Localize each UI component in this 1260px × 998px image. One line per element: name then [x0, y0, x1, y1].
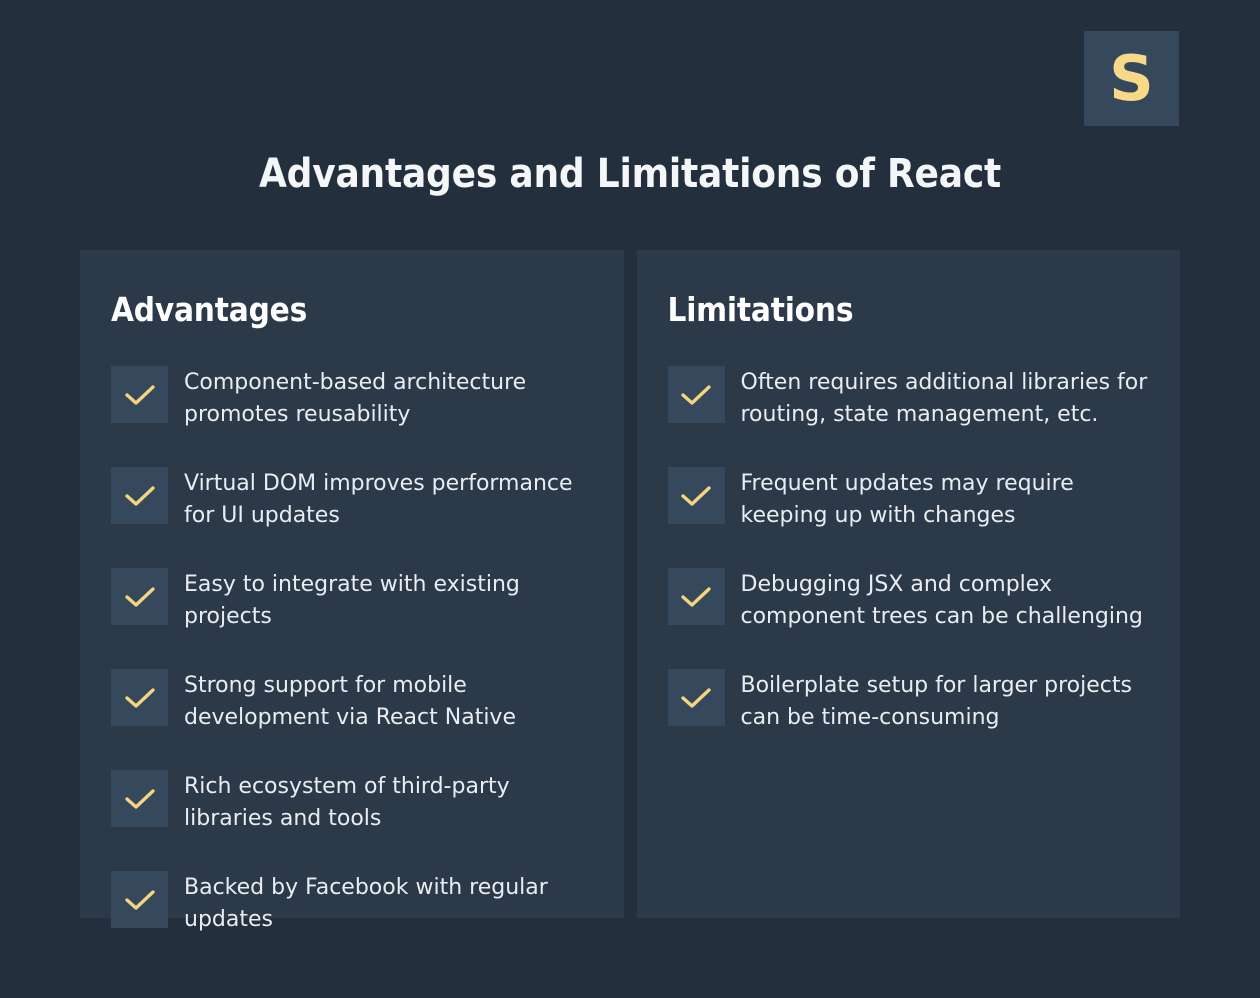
list-item-label: Easy to integrate with existing projects	[184, 568, 594, 633]
brand-logo-s-icon: S	[1109, 48, 1154, 110]
list-item-label: Rich ecosystem of third-party libraries …	[184, 770, 594, 835]
list-item-label: Boilerplate setup for larger projects ca…	[741, 669, 1151, 734]
check-icon	[111, 467, 168, 524]
check-icon	[111, 871, 168, 928]
list-item-label: Component-based architecture promotes re…	[184, 366, 594, 431]
check-icon	[668, 669, 725, 726]
list-item-label: Often requires additional libraries for …	[741, 366, 1151, 431]
list-item: Backed by Facebook with regular updates	[111, 871, 594, 936]
list-item: Strong support for mobile development vi…	[111, 669, 594, 734]
list-item-label: Virtual DOM improves performance for UI …	[184, 467, 594, 532]
panel-advantages: Advantages Component-based architecture …	[80, 250, 624, 918]
list-item-label: Backed by Facebook with regular updates	[184, 871, 594, 936]
brand-logo: S	[1084, 31, 1179, 126]
panel-heading-advantages: Advantages	[111, 290, 594, 330]
list-item: Boilerplate setup for larger projects ca…	[668, 669, 1151, 734]
list-item-label: Strong support for mobile development vi…	[184, 669, 594, 734]
advantages-list: Component-based architecture promotes re…	[111, 366, 594, 936]
check-icon	[111, 770, 168, 827]
panel-heading-limitations: Limitations	[668, 290, 1151, 330]
comparison-columns: Advantages Component-based architecture …	[80, 250, 1180, 918]
limitations-list: Often requires additional libraries for …	[668, 366, 1151, 734]
list-item: Easy to integrate with existing projects	[111, 568, 594, 633]
check-icon	[668, 366, 725, 423]
list-item-label: Frequent updates may require keeping up …	[741, 467, 1151, 532]
page-title: Advantages and Limitations of React	[0, 148, 1260, 200]
check-icon	[668, 568, 725, 625]
list-item-label: Debugging JSX and complex component tree…	[741, 568, 1151, 633]
panel-limitations: Limitations Often requires additional li…	[637, 250, 1181, 918]
list-item: Debugging JSX and complex component tree…	[668, 568, 1151, 633]
list-item: Often requires additional libraries for …	[668, 366, 1151, 431]
list-item: Component-based architecture promotes re…	[111, 366, 594, 431]
check-icon	[111, 568, 168, 625]
check-icon	[668, 467, 725, 524]
check-icon	[111, 669, 168, 726]
list-item: Virtual DOM improves performance for UI …	[111, 467, 594, 532]
list-item: Rich ecosystem of third-party libraries …	[111, 770, 594, 835]
check-icon	[111, 366, 168, 423]
list-item: Frequent updates may require keeping up …	[668, 467, 1151, 532]
